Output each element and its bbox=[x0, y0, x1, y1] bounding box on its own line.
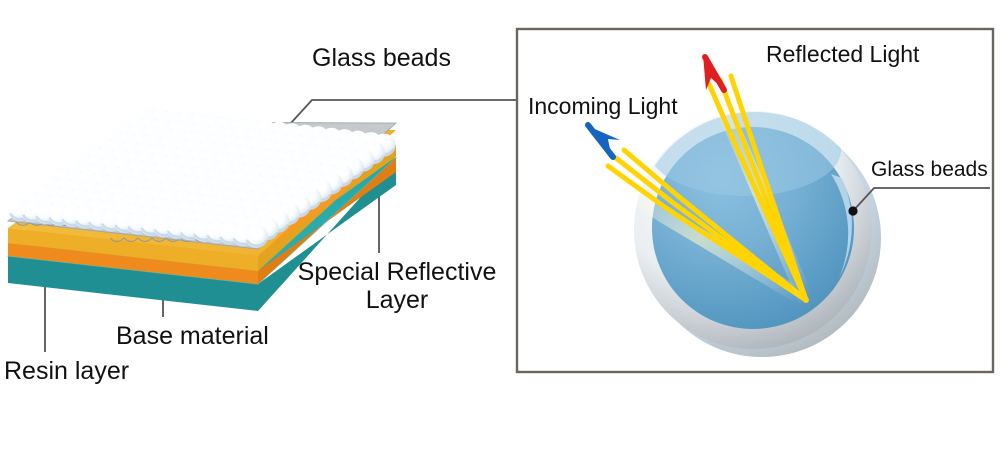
label-glass-beads-left: Glass beads bbox=[312, 44, 451, 72]
glass-bead-highlight bbox=[250, 229, 257, 236]
glass-bead-highlight bbox=[171, 220, 178, 227]
glass-bead-highlight bbox=[52, 207, 59, 214]
glass-bead-highlight bbox=[66, 208, 73, 215]
label-incoming-light: Incoming Light bbox=[528, 94, 678, 120]
glass-bead-highlight bbox=[223, 226, 230, 233]
diagram-canvas: Glass beads Resin layer Base material Sp… bbox=[0, 0, 1000, 450]
glass-bead-highlight bbox=[197, 223, 204, 230]
glass-bead-highlight bbox=[237, 227, 244, 234]
glass-bead-highlight bbox=[79, 210, 86, 217]
glass-bead-highlight bbox=[39, 205, 46, 212]
glass-bead-highlight bbox=[105, 212, 112, 219]
glass-bead-highlight bbox=[158, 218, 165, 225]
label-glass-beads-right: Glass beads bbox=[871, 158, 988, 182]
glass-bead-highlight bbox=[13, 202, 20, 209]
glass-bead-highlight bbox=[184, 221, 191, 228]
glass-bead-highlight bbox=[118, 214, 125, 221]
label-special-reflective-layer: Special Reflective Layer bbox=[286, 258, 508, 314]
glass-bead-highlight bbox=[92, 211, 99, 218]
glass-bead-highlight bbox=[26, 204, 33, 211]
glass-bead-highlight bbox=[210, 224, 217, 231]
label-base-material: Base material bbox=[116, 322, 269, 350]
glass-bead-highlight bbox=[145, 217, 152, 224]
label-reflected-light: Reflected Light bbox=[766, 42, 919, 68]
ray-focal-point bbox=[803, 297, 809, 303]
leader-dot-glass-beads-right bbox=[848, 206, 857, 215]
glass-bead-highlight bbox=[131, 215, 138, 222]
label-resin-layer: Resin layer bbox=[4, 357, 129, 385]
